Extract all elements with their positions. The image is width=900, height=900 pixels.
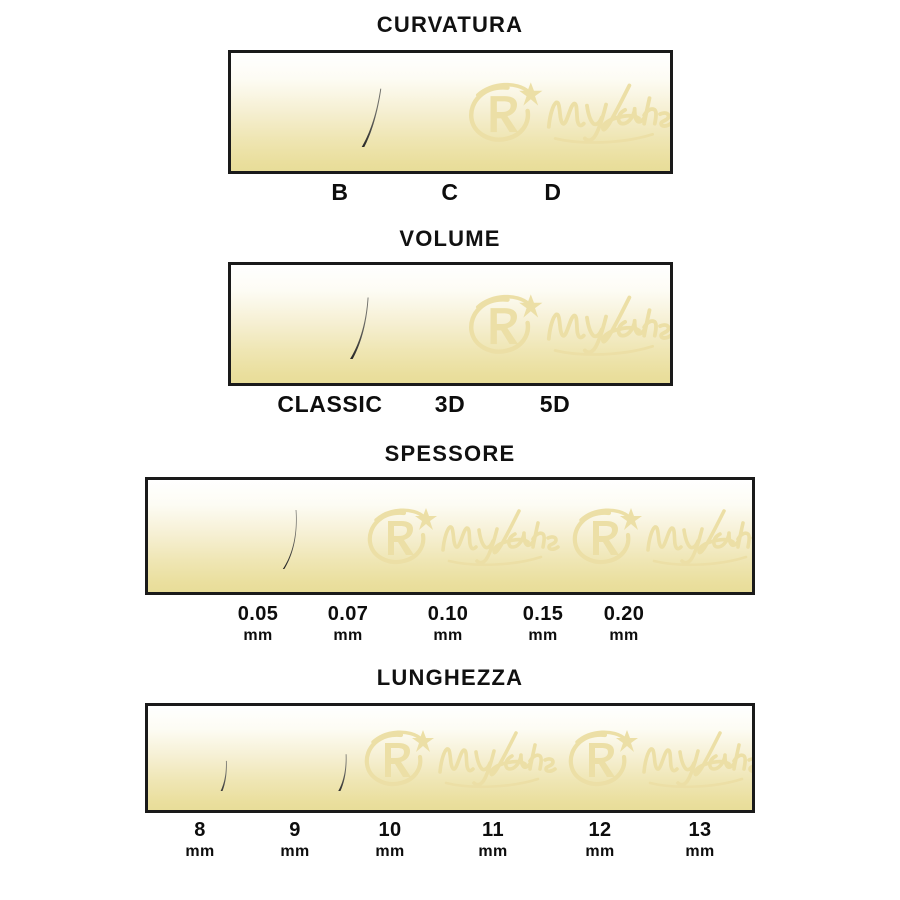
label-value: 12 xyxy=(585,819,614,843)
label-value: 0.20 xyxy=(604,603,645,627)
lash-illustration-spessore xyxy=(148,480,752,592)
panel-volume xyxy=(228,262,673,386)
panel-lunghezza xyxy=(145,703,755,813)
section-volume: VOLUME xyxy=(0,228,900,250)
lash-curves-curvatura xyxy=(231,53,670,171)
label-lunghezza-5: 13mm xyxy=(685,819,714,861)
label-unit: mm xyxy=(523,627,564,646)
section-title-spessore: SPESSORE xyxy=(0,443,900,465)
label-curvatura-1: C xyxy=(441,179,458,206)
label-value: 0.10 xyxy=(428,603,469,627)
label-unit: mm xyxy=(685,843,714,862)
label-unit: mm xyxy=(328,627,369,646)
lash-curves-lunghezza xyxy=(148,706,752,810)
label-spessore-4: 0.20mm xyxy=(604,603,645,645)
section-title-curvatura: CURVATURA xyxy=(0,14,900,36)
section-curvatura: CURVATURA xyxy=(0,14,900,36)
panel-spessore xyxy=(145,477,755,595)
label-volume-0: CLASSIC xyxy=(277,391,382,418)
label-volume-2: 5D xyxy=(540,391,571,418)
label-unit: mm xyxy=(478,843,507,862)
label-lunghezza-0: 8mm xyxy=(185,819,214,861)
label-lunghezza-4: 12mm xyxy=(585,819,614,861)
label-unit: mm xyxy=(375,843,404,862)
label-spessore-3: 0.15mm xyxy=(523,603,564,645)
label-lunghezza-3: 11mm xyxy=(478,819,507,861)
lash-chart-sheet: CURVATURA xyxy=(0,0,900,900)
label-curvatura-2: D xyxy=(544,179,561,206)
label-unit: mm xyxy=(428,627,469,646)
section-lunghezza: LUNGHEZZA xyxy=(0,667,900,689)
label-value: 5D xyxy=(540,391,571,418)
label-value: 11 xyxy=(478,819,507,843)
label-unit: mm xyxy=(604,627,645,646)
label-spessore-1: 0.07mm xyxy=(328,603,369,645)
label-value: 9 xyxy=(280,819,309,843)
label-value: 13 xyxy=(685,819,714,843)
label-value: 3D xyxy=(435,391,466,418)
label-volume-1: 3D xyxy=(435,391,466,418)
label-value: D xyxy=(544,179,561,206)
section-title-volume: VOLUME xyxy=(0,228,900,250)
label-value: 0.05 xyxy=(238,603,279,627)
label-value: CLASSIC xyxy=(277,391,382,418)
label-spessore-2: 0.10mm xyxy=(428,603,469,645)
lash-illustration-volume xyxy=(231,265,670,383)
label-curvatura-0: B xyxy=(331,179,348,206)
label-value: B xyxy=(331,179,348,206)
label-value: 0.15 xyxy=(523,603,564,627)
label-lunghezza-2: 10mm xyxy=(375,819,404,861)
section-title-lunghezza: LUNGHEZZA xyxy=(0,667,900,689)
label-unit: mm xyxy=(280,843,309,862)
label-value: 0.07 xyxy=(328,603,369,627)
panel-curvatura xyxy=(228,50,673,174)
label-value: 8 xyxy=(185,819,214,843)
lash-illustration-lunghezza xyxy=(148,706,752,810)
lash-fans-volume xyxy=(231,265,670,383)
label-unit: mm xyxy=(238,627,279,646)
label-value: 10 xyxy=(375,819,404,843)
lash-curves-spessore xyxy=(148,480,752,592)
label-spessore-0: 0.05mm xyxy=(238,603,279,645)
label-value: C xyxy=(441,179,458,206)
label-lunghezza-1: 9mm xyxy=(280,819,309,861)
section-spessore: SPESSORE xyxy=(0,443,900,465)
label-unit: mm xyxy=(585,843,614,862)
label-unit: mm xyxy=(185,843,214,862)
lash-illustration-curvatura xyxy=(231,53,670,171)
